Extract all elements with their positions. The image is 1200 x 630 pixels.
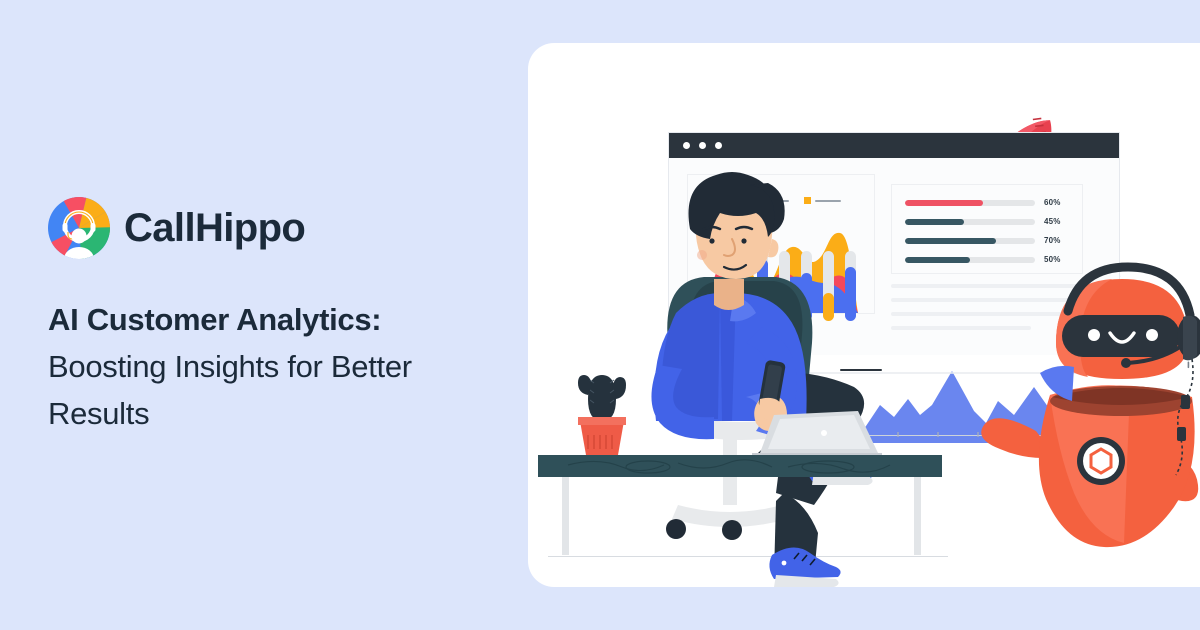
illustration-scene: 60% 45% 70% [528,43,1200,587]
callhippo-circle-logo-icon [48,197,110,259]
brand-lockup: CallHippo [48,196,488,260]
illustration-card: 60% 45% 70% [528,43,1200,587]
support-robot-illustration [528,43,1200,587]
headline-line-2: Boosting Insights for Better Results [48,343,488,437]
brand-name-text: CallHippo [124,208,305,248]
left-content-pane: CallHippo AI Customer Analytics: Boostin… [48,196,488,437]
headline-line-1: AI Customer Analytics: [48,296,488,343]
banner-root: CallHippo AI Customer Analytics: Boostin… [0,0,1200,630]
page-title: AI Customer Analytics: Boosting Insights… [48,296,488,437]
